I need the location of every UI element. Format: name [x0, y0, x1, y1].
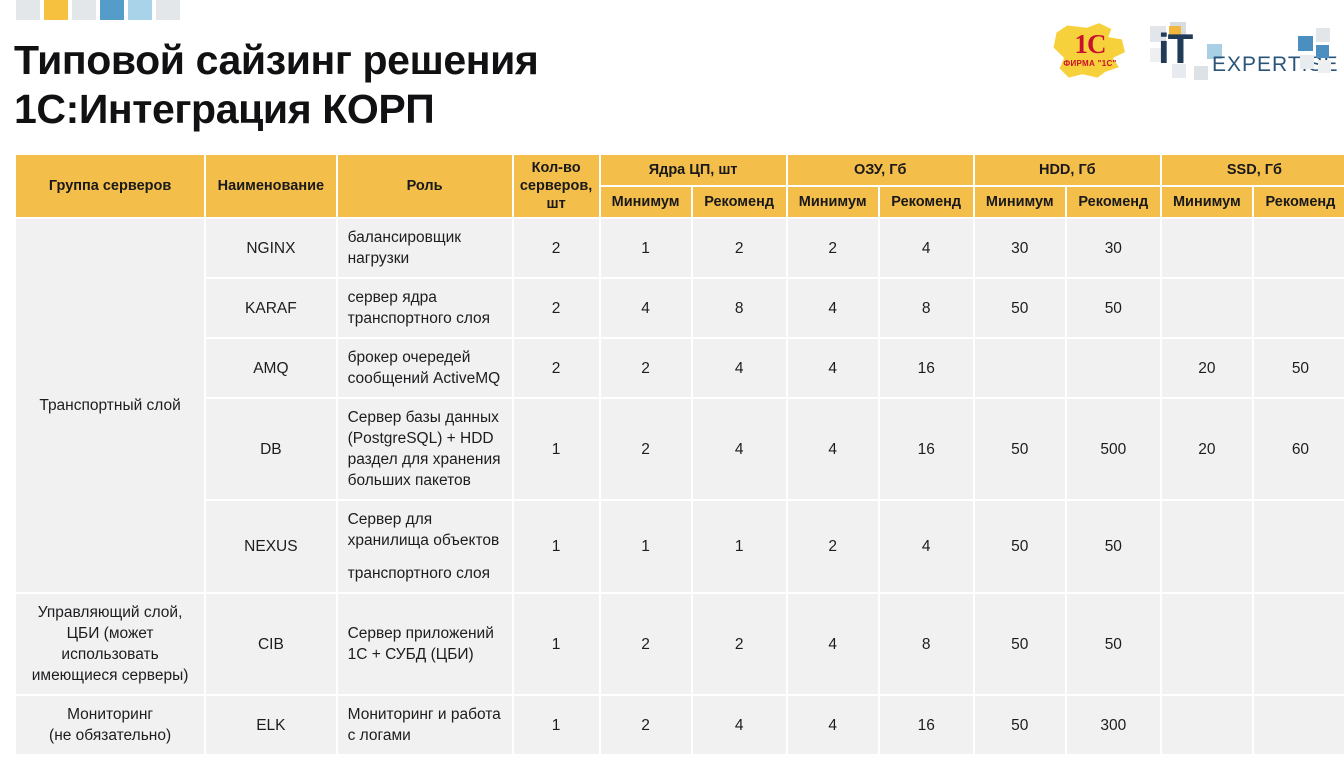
table-cell-ram-min: 2 — [788, 219, 878, 277]
table-cell-name: NGINX — [206, 219, 335, 277]
table-subheader-cell: Минимум — [788, 187, 878, 217]
logo-square-blue — [1298, 36, 1313, 51]
it-expertise-logo: iT EXPERTISE — [1150, 22, 1336, 80]
table-cell-hdd-min: 50 — [975, 501, 1065, 592]
table-cell-ram-min: 4 — [788, 279, 878, 337]
page-title: Типовой сайзинг решения 1С:Интеграция КО… — [14, 36, 538, 134]
table-row: KARAFсервер ядра транспортного слоя24848… — [16, 279, 1344, 337]
table-cell-role: Мониторинг и работа с логами — [338, 696, 512, 754]
table-subheader-cell: Минимум — [975, 187, 1065, 217]
table-cell-servers: 1 — [514, 696, 599, 754]
table-row: Управляющий слой, ЦБИ (может использоват… — [16, 594, 1344, 694]
table-body: Транспортный слойNGINXбалансировщик нагр… — [16, 219, 1344, 754]
bar-blue — [100, 0, 124, 20]
table-cell-cpu-min: 2 — [601, 696, 691, 754]
table-header-cell: Роль — [338, 155, 512, 217]
onec-logo-mark: 1C — [1058, 29, 1122, 59]
table-header-cell: Группа серверов — [16, 155, 204, 217]
table-cell-role: Сервер для хранилища объектовтранспортно… — [338, 501, 512, 592]
onec-firm-logo: 1C ФИРМА "1С" — [1052, 22, 1128, 80]
table-cell-hdd-min: 50 — [975, 696, 1065, 754]
logo-square-decor — [1194, 66, 1208, 80]
table-cell-ssd-min — [1162, 696, 1252, 754]
table-cell-cpu-min: 2 — [601, 399, 691, 499]
table-cell-cpu-rec: 2 — [693, 594, 786, 694]
table-cell-hdd-rec: 50 — [1067, 501, 1160, 592]
table-cell-ssd-rec — [1254, 594, 1344, 694]
table-cell-cpu-rec: 4 — [693, 339, 786, 397]
table-cell-name: NEXUS — [206, 501, 335, 592]
table-cell-hdd-rec — [1067, 339, 1160, 397]
bar-yellow — [44, 0, 68, 20]
table-subheader-cell: Рекоменд — [1067, 187, 1160, 217]
table-row: DBСервер базы данных (PostgreSQL) + HDD … — [16, 399, 1344, 499]
table-cell-ssd-min — [1162, 501, 1252, 592]
table-cell-hdd-min: 50 — [975, 399, 1065, 499]
logo-square-decor — [1316, 28, 1330, 42]
table-cell-name: ELK — [206, 696, 335, 754]
table-cell-ssd-min: 20 — [1162, 339, 1252, 397]
table-cell-ram-rec: 16 — [880, 399, 973, 499]
logo-square-decor — [1300, 55, 1314, 69]
table-subheader-cell: Рекоменд — [880, 187, 973, 217]
table-cell-ssd-rec: 50 — [1254, 339, 1344, 397]
table-cell-ssd-min — [1162, 219, 1252, 277]
table-cell-ssd-rec — [1254, 696, 1344, 754]
table-cell-hdd-rec: 300 — [1067, 696, 1160, 754]
table-header-row-top: Группа серверовНаименованиеРольКол-во се… — [16, 155, 1344, 185]
table-header-cell: Ядра ЦП, шт — [601, 155, 786, 185]
table-cell-ram-min: 4 — [788, 594, 878, 694]
table-cell-hdd-rec: 500 — [1067, 399, 1160, 499]
table-cell-ssd-rec — [1254, 219, 1344, 277]
slide-page: 1C ФИРМА "1С" iT EXPERTISE Типовой сайзи… — [0, 0, 1344, 782]
table-subheader-cell: Рекоменд — [1254, 187, 1344, 217]
bar-lightblue — [128, 0, 152, 20]
table-cell-name: DB — [206, 399, 335, 499]
table-cell-ssd-rec: 60 — [1254, 399, 1344, 499]
table-header-cell: Кол-во серверов, шт — [514, 155, 599, 217]
table-cell-hdd-rec: 30 — [1067, 219, 1160, 277]
onec-logo-caption: ФИРМА "1С" — [1052, 59, 1128, 68]
bar-gray-2 — [72, 0, 96, 20]
it-wordmark: iT — [1158, 28, 1191, 70]
table-cell-cpu-rec: 4 — [693, 399, 786, 499]
table-cell-ram-min: 4 — [788, 696, 878, 754]
table-cell-servers: 1 — [514, 501, 599, 592]
table-cell-hdd-min — [975, 339, 1065, 397]
table-cell-ram-rec: 8 — [880, 279, 973, 337]
table-cell-ram-rec: 4 — [880, 219, 973, 277]
table-subheader-cell: Минимум — [1162, 187, 1252, 217]
table-cell-cpu-min: 2 — [601, 594, 691, 694]
table-cell-cpu-min: 1 — [601, 219, 691, 277]
table-cell-group: Мониторинг (не обязательно) — [16, 696, 204, 754]
table-header-cell: SSD, Гб — [1162, 155, 1344, 185]
table-cell-group: Транспортный слой — [16, 219, 204, 592]
table-cell-cpu-rec: 4 — [693, 696, 786, 754]
table-cell-role: Сервер приложений 1С + СУБД (ЦБИ) — [338, 594, 512, 694]
table-cell-ram-rec: 4 — [880, 501, 973, 592]
table-subheader-cell: Минимум — [601, 187, 691, 217]
table-cell-ram-rec: 16 — [880, 339, 973, 397]
table-cell-ssd-rec — [1254, 279, 1344, 337]
table-cell-cpu-min: 2 — [601, 339, 691, 397]
sizing-table-container: Группа серверовНаименованиеРольКол-во се… — [14, 153, 1344, 756]
table-row: Мониторинг (не обязательно)ELKМониторинг… — [16, 696, 1344, 754]
table-cell-ram-min: 4 — [788, 339, 878, 397]
table-cell-servers: 2 — [514, 279, 599, 337]
table-cell-ssd-min — [1162, 279, 1252, 337]
table-cell-servers: 1 — [514, 399, 599, 499]
table-cell-name: CIB — [206, 594, 335, 694]
table-cell-cpu-min: 4 — [601, 279, 691, 337]
table-cell-ram-rec: 8 — [880, 594, 973, 694]
decorative-bar-strip — [16, 0, 180, 20]
table-row: AMQброкер очередей сообщений ActiveMQ224… — [16, 339, 1344, 397]
bar-gray-3 — [156, 0, 180, 20]
logo-group: 1C ФИРМА "1С" iT EXPERTISE — [1052, 22, 1336, 80]
logo-square-blue — [1316, 45, 1329, 58]
table-cell-ssd-min — [1162, 594, 1252, 694]
table-header: Группа серверовНаименованиеРольКол-во се… — [16, 155, 1344, 217]
table-cell-ssd-min: 20 — [1162, 399, 1252, 499]
table-cell-servers: 2 — [514, 219, 599, 277]
bar-gray-1 — [16, 0, 40, 20]
sizing-table: Группа серверовНаименованиеРольКол-во се… — [14, 153, 1344, 756]
table-cell-hdd-min: 50 — [975, 594, 1065, 694]
table-cell-cpu-min: 1 — [601, 501, 691, 592]
table-cell-hdd-min: 30 — [975, 219, 1065, 277]
table-subheader-cell: Рекоменд — [693, 187, 786, 217]
table-cell-hdd-rec: 50 — [1067, 279, 1160, 337]
table-cell-hdd-rec: 50 — [1067, 594, 1160, 694]
table-cell-ram-min: 4 — [788, 399, 878, 499]
table-cell-role: балансировщик нагрузки — [338, 219, 512, 277]
table-cell-servers: 2 — [514, 339, 599, 397]
logo-square-decor — [1318, 60, 1331, 73]
table-cell-cpu-rec: 1 — [693, 501, 786, 592]
table-cell-group: Управляющий слой, ЦБИ (может использоват… — [16, 594, 204, 694]
table-header-cell: HDD, Гб — [975, 155, 1160, 185]
table-cell-name: AMQ — [206, 339, 335, 397]
table-row: NEXUSСервер для хранилища объектовтрансп… — [16, 501, 1344, 592]
table-cell-ram-min: 2 — [788, 501, 878, 592]
table-cell-role: брокер очередей сообщений ActiveMQ — [338, 339, 512, 397]
table-cell-ssd-rec — [1254, 501, 1344, 592]
table-cell-role: сервер ядра транспортного слоя — [338, 279, 512, 337]
table-cell-role: Сервер базы данных (PostgreSQL) + HDD ра… — [338, 399, 512, 499]
table-cell-hdd-min: 50 — [975, 279, 1065, 337]
table-cell-cpu-rec: 2 — [693, 219, 786, 277]
table-cell-name: KARAF — [206, 279, 335, 337]
table-row: Транспортный слойNGINXбалансировщик нагр… — [16, 219, 1344, 277]
table-cell-cpu-rec: 8 — [693, 279, 786, 337]
table-cell-ram-rec: 16 — [880, 696, 973, 754]
table-header-cell: ОЗУ, Гб — [788, 155, 973, 185]
table-header-cell: Наименование — [206, 155, 335, 217]
table-cell-servers: 1 — [514, 594, 599, 694]
